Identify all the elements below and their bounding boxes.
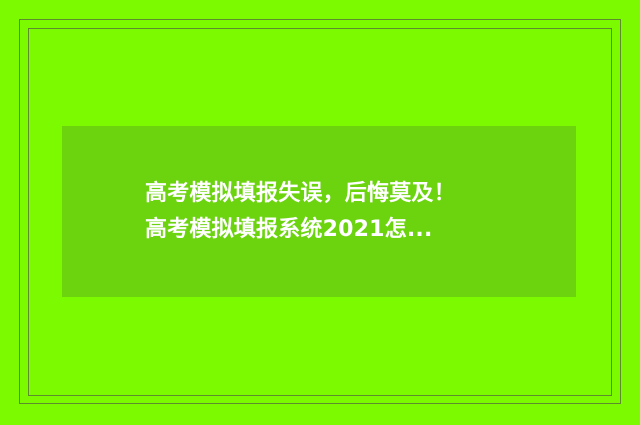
caption-panel: 高考模拟填报失误，后悔莫及！ 高考模拟填报系统2021怎... [62,126,576,297]
caption-line-1: 高考模拟填报失误，后悔莫及！ [145,176,565,212]
caption-text-block: 高考模拟填报失误，后悔莫及！ 高考模拟填报系统2021怎... [145,176,565,248]
caption-line-2: 高考模拟填报系统2021怎... [145,212,565,248]
placeholder-card: 高考模拟填报失误，后悔莫及！ 高考模拟填报系统2021怎... [0,0,640,425]
